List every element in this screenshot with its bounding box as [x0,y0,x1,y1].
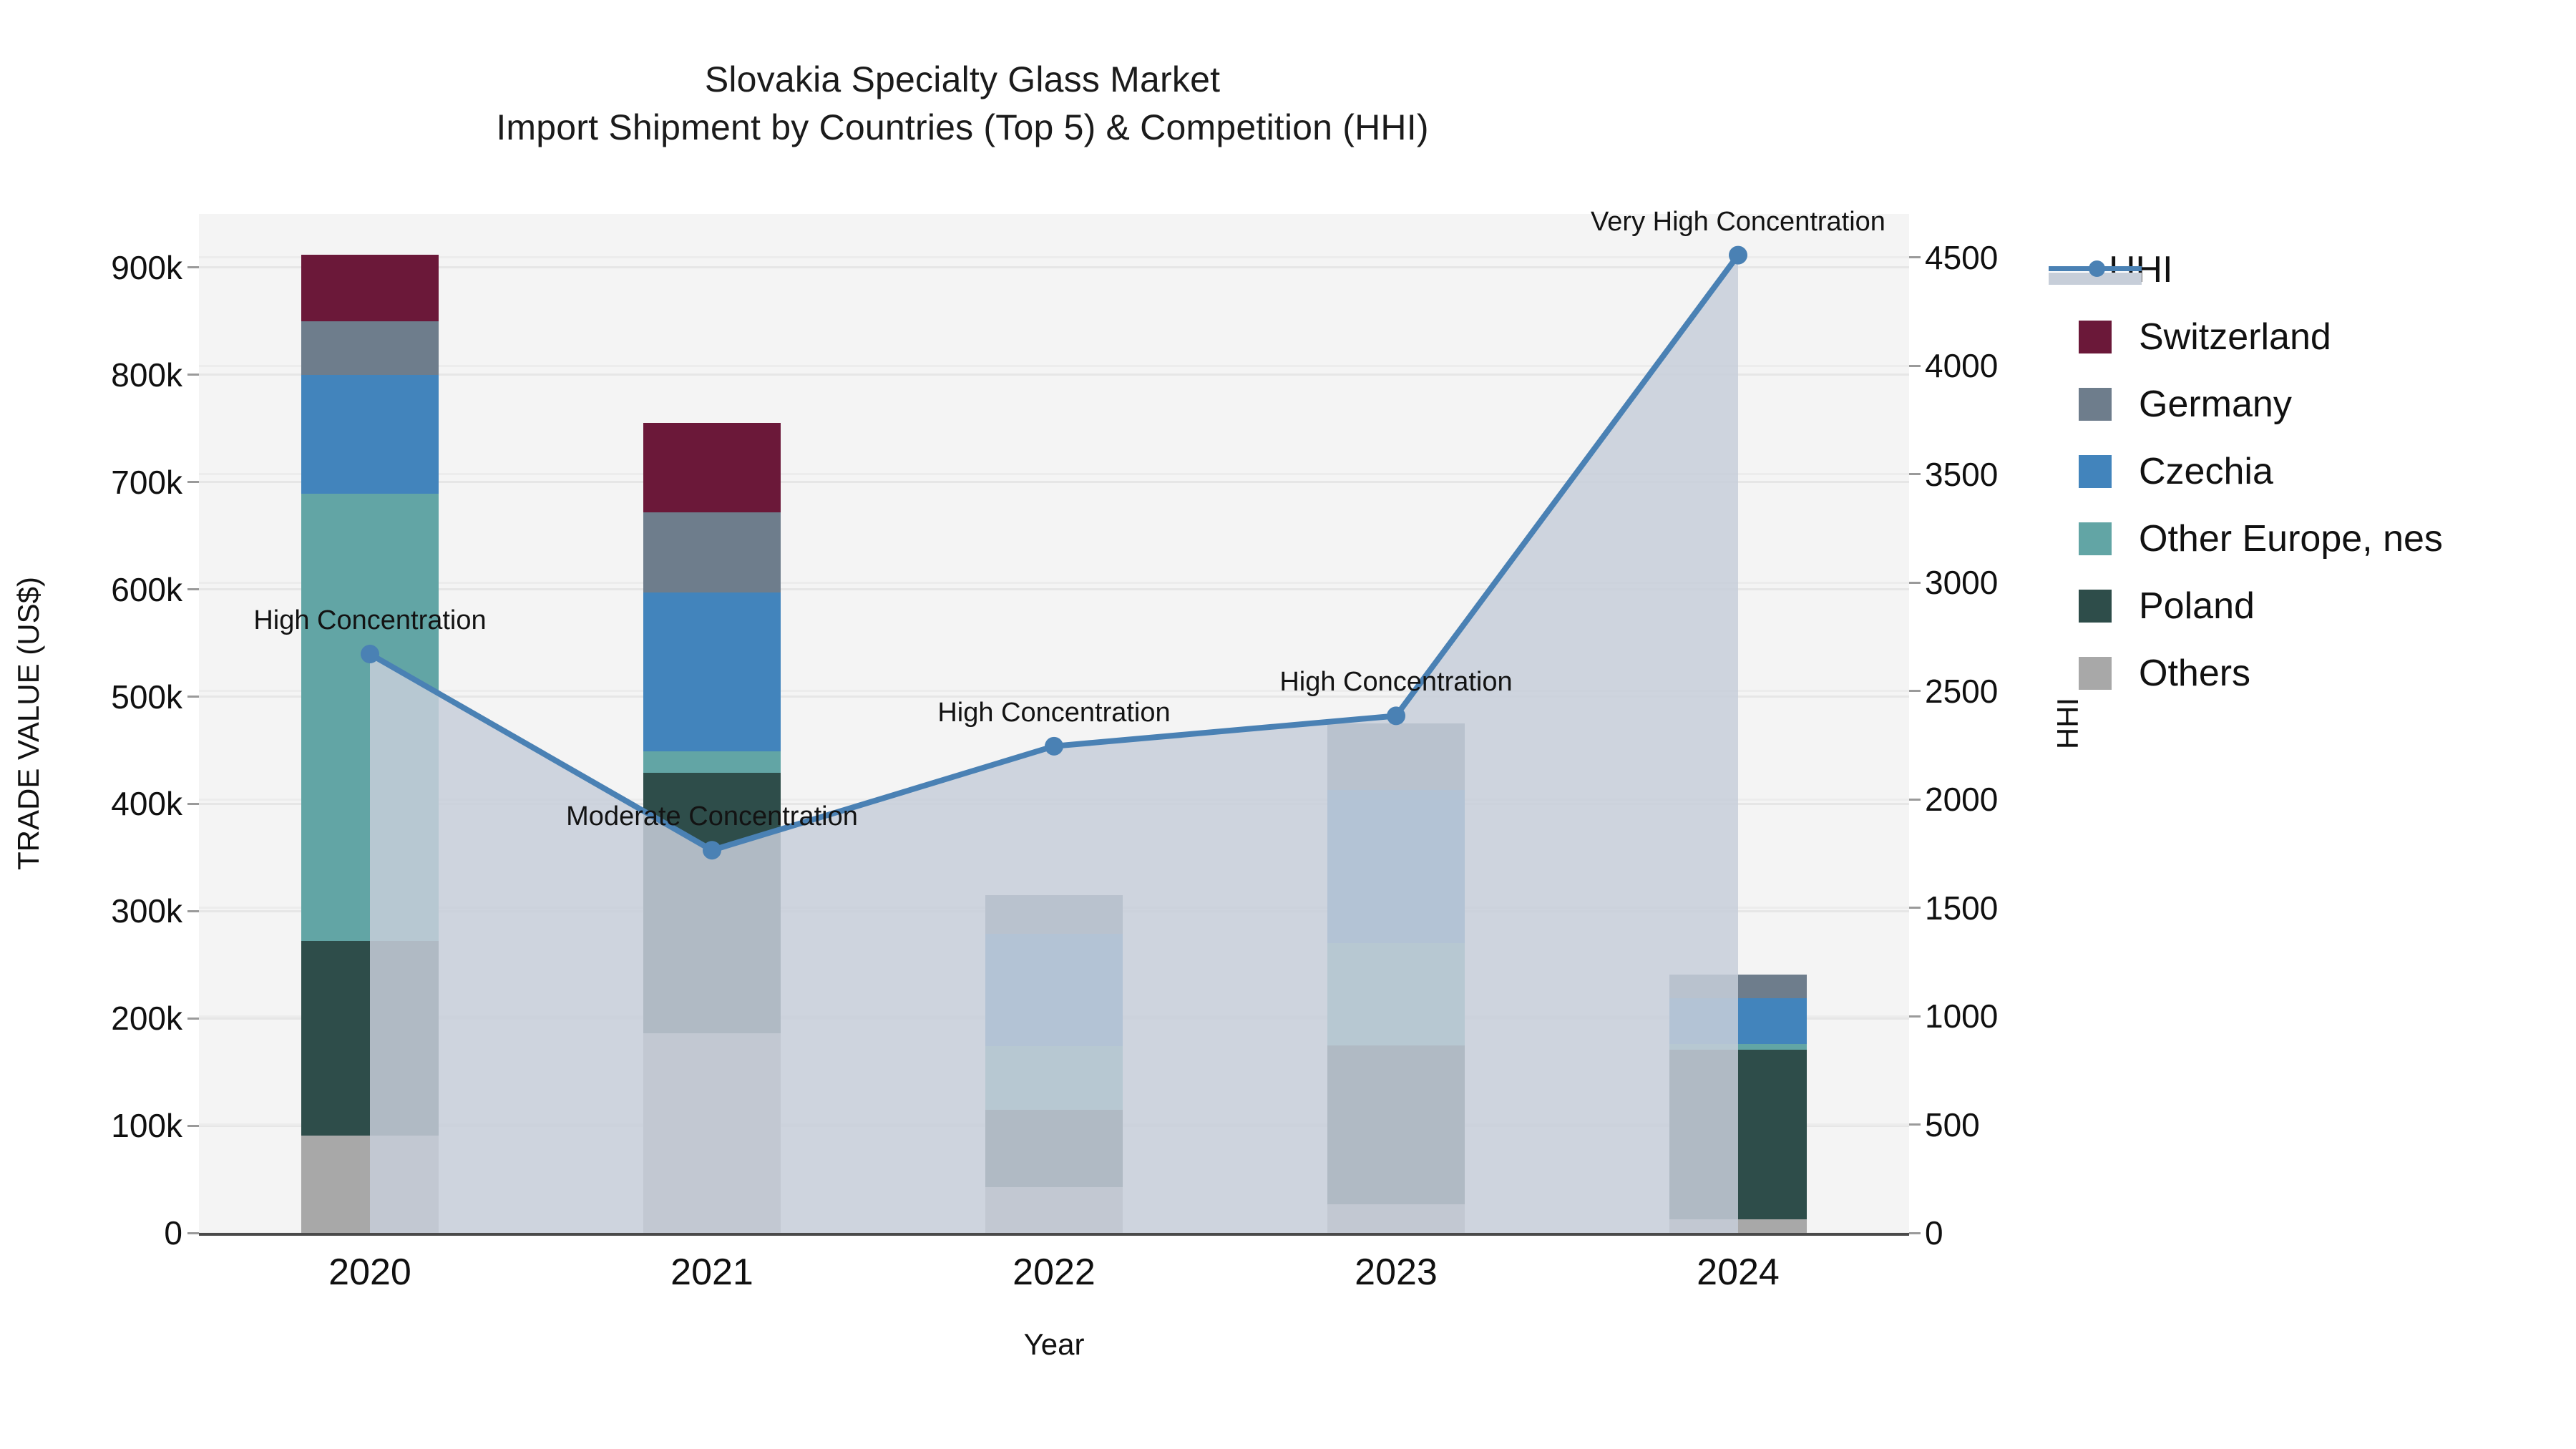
y-tick-right: 500 [1925,1106,1980,1144]
hhi-annotation: High Concentration [937,698,1170,728]
y-tick-mark-right [1909,1015,1921,1018]
legend-swatch [2079,590,2112,623]
bar-segment[interactable] [1327,943,1464,1045]
bar-segment[interactable] [301,1136,438,1233]
legend-swatch [2079,455,2112,488]
y-tick-left: 100k [43,1106,182,1145]
chart-title: Slovakia Specialty Glass Market [0,56,1925,104]
legend-item-poland[interactable]: Poland [2079,572,2443,640]
y-tick-left: 300k [43,892,182,930]
y-tick-mark-right [1909,582,1921,584]
hhi-annotation: High Concentration [1279,667,1512,698]
y-tick-left: 700k [43,463,182,502]
chart-subtitle: Import Shipment by Countries (Top 5) & C… [0,104,1925,152]
y-tick-mark-right [1909,473,1921,475]
bar-segment[interactable] [643,423,780,512]
y-tick-right: 4500 [1925,238,1998,277]
chart-root: Slovakia Specialty Glass Market Import S… [0,0,2576,1449]
legend-line-dot [2089,260,2105,277]
y-tick-mark-right [1909,256,1921,258]
y-tick-mark-left [187,588,199,590]
y-tick-mark-left [187,374,199,376]
y-tick-left: 600k [43,570,182,609]
y-tick-mark-left [187,1232,199,1234]
y-tick-left: 0 [43,1214,182,1252]
y-tick-right: 1500 [1925,889,1998,927]
bar-segment[interactable] [1327,1045,1464,1204]
y-tick-left: 500k [43,678,182,716]
hhi-annotation: High Concentration [253,605,486,636]
y-tick-right: 2000 [1925,780,1998,819]
bar-segment[interactable] [643,512,780,592]
y-tick-mark-left [187,266,199,268]
legend-swatch [2079,388,2112,421]
bar-group[interactable] [1669,214,1806,1233]
bar-segment[interactable] [1327,790,1464,943]
y-axis-left-title: TRADE VALUE (US$) [11,537,46,909]
legend-label: Poland [2139,587,2255,625]
y-tick-mark-right [1909,1123,1921,1126]
x-tick-label: 2022 [1013,1251,1096,1294]
y-tick-right: 1000 [1925,997,1998,1035]
y-tick-right: 3500 [1925,455,1998,494]
x-tick-label: 2021 [670,1251,753,1294]
bar-group[interactable] [301,214,438,1233]
bar-segment[interactable] [985,1187,1122,1233]
bar-segment[interactable] [301,255,438,321]
bar-segment[interactable] [643,1033,780,1233]
bar-segment[interactable] [301,494,438,941]
bar-segment[interactable] [1327,723,1464,790]
x-tick-label: 2024 [1697,1251,1780,1294]
legend-label: Germany [2139,386,2292,423]
bar-group[interactable] [643,214,780,1233]
legend-line-icon [2049,253,2142,286]
legend-swatch [2079,522,2112,555]
bar-segment[interactable] [1669,1050,1806,1219]
bar-segment[interactable] [985,934,1122,1046]
legend-label: Other Europe, nes [2139,520,2443,557]
x-axis-title: Year [199,1327,1909,1362]
bar-segment[interactable] [643,592,780,751]
y-tick-right: 3000 [1925,563,1998,602]
y-tick-mark-left [187,481,199,483]
legend-item-germany[interactable]: Germany [2079,371,2443,438]
legend-swatch [2079,321,2112,353]
legend-item-czechia[interactable]: Czechia [2079,438,2443,505]
bar-segment[interactable] [301,941,438,1135]
bar-segment[interactable] [985,895,1122,934]
bar-group[interactable] [1327,214,1464,1233]
chart-legend: HHISwitzerlandGermanyCzechiaOther Europe… [2079,236,2443,707]
y-tick-right: 4000 [1925,346,1998,385]
hhi-annotation: Moderate Concentration [566,801,858,832]
y-tick-mark-left [187,910,199,912]
bar-segment[interactable] [1669,975,1806,998]
chart-title-block: Slovakia Specialty Glass Market Import S… [0,56,1925,152]
y-tick-left: 200k [43,999,182,1038]
x-axis-line [199,1233,1909,1236]
hhi-annotation: Very High Concentration [1591,207,1885,238]
y-tick-mark-left [187,696,199,698]
y-tick-mark-right [1909,690,1921,692]
bar-segment[interactable] [301,321,438,375]
x-tick-label: 2023 [1355,1251,1438,1294]
y-tick-mark-left [187,1125,199,1127]
x-tick-label: 2020 [328,1251,411,1294]
y-tick-right: 2500 [1925,672,1998,711]
legend-item-hhi[interactable]: HHI [2079,236,2443,303]
legend-item-others[interactable]: Others [2079,640,2443,707]
y-tick-mark-left [187,803,199,805]
legend-swatch [2079,657,2112,690]
legend-label: Czechia [2139,453,2273,490]
bar-segment[interactable] [1669,998,1806,1044]
y-tick-left: 800k [43,356,182,394]
legend-item-other-europe-nes[interactable]: Other Europe, nes [2079,505,2443,572]
bar-segment[interactable] [985,1046,1122,1109]
y-tick-mark-right [1909,365,1921,367]
bar-segment[interactable] [1327,1204,1464,1233]
bar-segment[interactable] [301,375,438,494]
bar-segment[interactable] [1669,1219,1806,1233]
y-tick-mark-right [1909,799,1921,801]
bar-segment[interactable] [1669,1044,1806,1049]
y-tick-left: 900k [43,248,182,287]
y-tick-mark-right [1909,907,1921,909]
legend-item-switzerland[interactable]: Switzerland [2079,303,2443,371]
legend-label: Others [2139,655,2250,692]
y-tick-left: 400k [43,784,182,823]
y-tick-right: 0 [1925,1214,1943,1252]
y-tick-mark-left [187,1018,199,1020]
legend-label: Switzerland [2139,318,2331,356]
bar-segment[interactable] [643,751,780,773]
bar-segment[interactable] [985,1110,1122,1187]
y-tick-mark-right [1909,1232,1921,1234]
